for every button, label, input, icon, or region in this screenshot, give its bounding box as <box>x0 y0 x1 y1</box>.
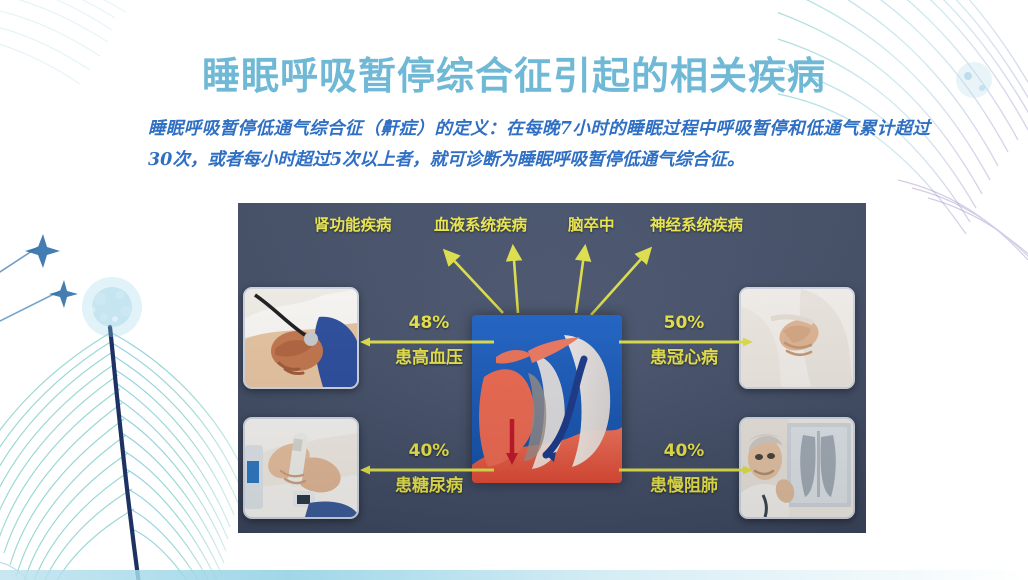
stat-percent: 40% <box>358 441 500 461</box>
stat-percent: 50% <box>613 313 755 333</box>
arrow-left-icon <box>358 461 500 473</box>
arrow-right-icon <box>613 461 755 473</box>
slide-root: 睡眠呼吸暂停综合征引起的相关疾病 睡眠呼吸暂停低通气综合征（鼾症）的定义：在每晚… <box>0 0 1028 580</box>
disease-relationship-diagram: 肾功能疾病 血液系统疾病 脑卒中 神经系统疾病 <box>238 203 866 533</box>
ray-to-stroke <box>576 247 585 313</box>
bottom-accent-band <box>0 570 1028 580</box>
stat-percent: 48% <box>358 313 500 333</box>
photo-doctor-reading-chest-xray <box>739 417 855 519</box>
photo-chest-pain-patient <box>739 287 855 389</box>
dandelion-puff-icon <box>82 277 142 337</box>
shooting-star-icon <box>0 234 60 293</box>
stat-copd: 40% 患慢阻肺 <box>613 441 755 498</box>
photo-blood-pressure-measurement <box>243 287 359 389</box>
definition-paragraph: 睡眠呼吸暂停低通气综合征（鼾症）的定义：在每晚7小时的睡眠过程中呼吸暂停和低通气… <box>148 114 930 176</box>
ray-to-nervous <box>591 249 650 315</box>
stat-label: 患高血压 <box>358 346 500 370</box>
stat-label: 患慢阻肺 <box>613 474 755 498</box>
arrow-left-icon <box>358 333 500 345</box>
ray-to-kidney <box>445 251 503 313</box>
stat-percent: 40% <box>613 441 755 461</box>
photo-blood-glucose-test <box>243 417 359 519</box>
arrow-right-icon <box>613 333 755 345</box>
stat-coronary-heart-disease: 50% 患冠心病 <box>613 313 755 370</box>
stat-diabetes: 40% 患糖尿病 <box>358 441 500 498</box>
stat-label: 患冠心病 <box>613 346 755 370</box>
stat-hypertension: 48% 患高血压 <box>358 313 500 370</box>
ray-to-blood <box>513 247 518 313</box>
stat-label: 患糖尿病 <box>358 474 500 498</box>
shooting-star-icon <box>0 280 78 341</box>
page-title: 睡眠呼吸暂停综合征引起的相关疾病 <box>0 45 1028 100</box>
